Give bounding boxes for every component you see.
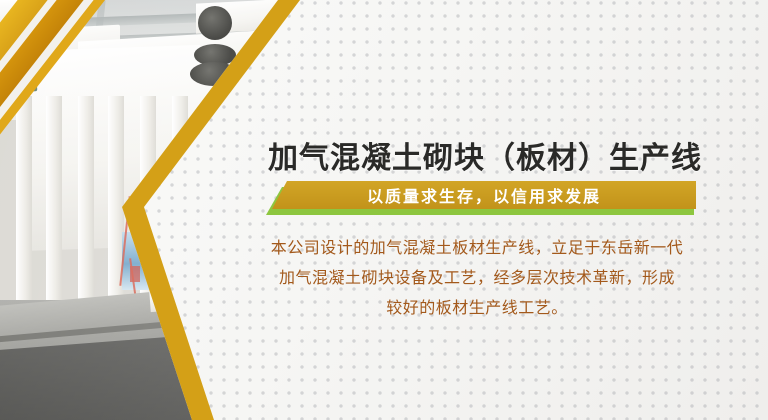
slogan-ribbon: 以质量求生存，以信用求发展 (266, 181, 708, 217)
description-line: 较好的板材生产线工艺。 (236, 293, 718, 323)
slogan-text: 以质量求生存，以信用求发展 (272, 181, 696, 209)
description-block: 本公司设计的加气混凝土板材生产线，立足于东岳新一代 加气混凝土砌块设备及工艺，经… (236, 233, 718, 323)
banner-content: 加气混凝土砌块（板材）生产线 以质量求生存，以信用求发展 本公司设计的加气混凝土… (228, 0, 728, 420)
product-banner: 加气混凝土砌块（板材）生产线 以质量求生存，以信用求发展 本公司设计的加气混凝土… (0, 0, 768, 420)
description-line: 本公司设计的加气混凝土板材生产线，立足于东岳新一代 (236, 233, 718, 263)
page-title: 加气混凝土砌块（板材）生产线 (268, 133, 728, 177)
description-line: 加气混凝土砌块设备及工艺，经多层次技术革新，形成 (236, 263, 718, 293)
